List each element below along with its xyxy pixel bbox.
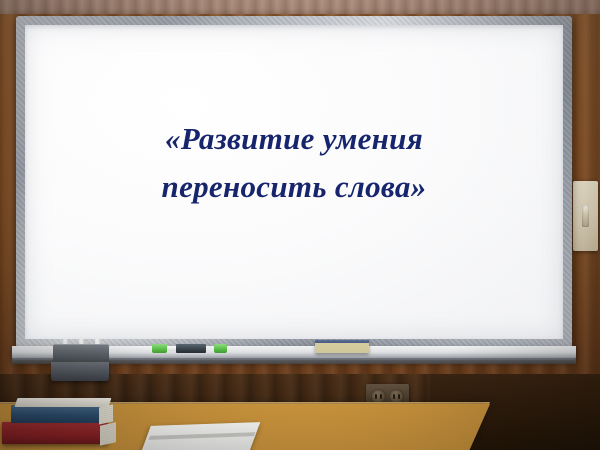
whiteboard-frame: «Развитие умения переносить слова» [16,16,572,348]
wall-top-trim [0,0,600,14]
light-switch-toggle-icon[interactable] [582,205,589,227]
green-marker[interactable] [152,344,210,353]
marker-holder-base [51,362,109,381]
whiteboard-surface: «Развитие умения переносить слова» [25,25,563,339]
green-marker-cap-icon [152,344,167,353]
marker-holder-top [53,344,109,361]
blue-book[interactable] [11,405,107,423]
light-switch-plate[interactable] [573,181,598,251]
red-book[interactable] [2,422,108,444]
socket-hole [380,394,382,399]
blue-book-pages [99,405,113,425]
red-book-pages [100,422,116,445]
whiteboard-eraser-top-strip [315,340,369,343]
green-marker-body [176,344,206,353]
whiteboard-title-line-2: переносить слова» [162,165,427,209]
marker-holder[interactable] [53,344,109,382]
socket-hole [398,394,400,399]
blue-book-cover-top [15,398,112,407]
whiteboard-title-line-1: «Развитие умения [165,117,423,161]
green-cap[interactable] [214,344,227,353]
socket-hole [375,394,377,399]
whiteboard-eraser[interactable] [315,340,369,353]
classroom-scene: «Развитие умения переносить слова» [0,0,600,450]
socket-hole [393,394,395,399]
